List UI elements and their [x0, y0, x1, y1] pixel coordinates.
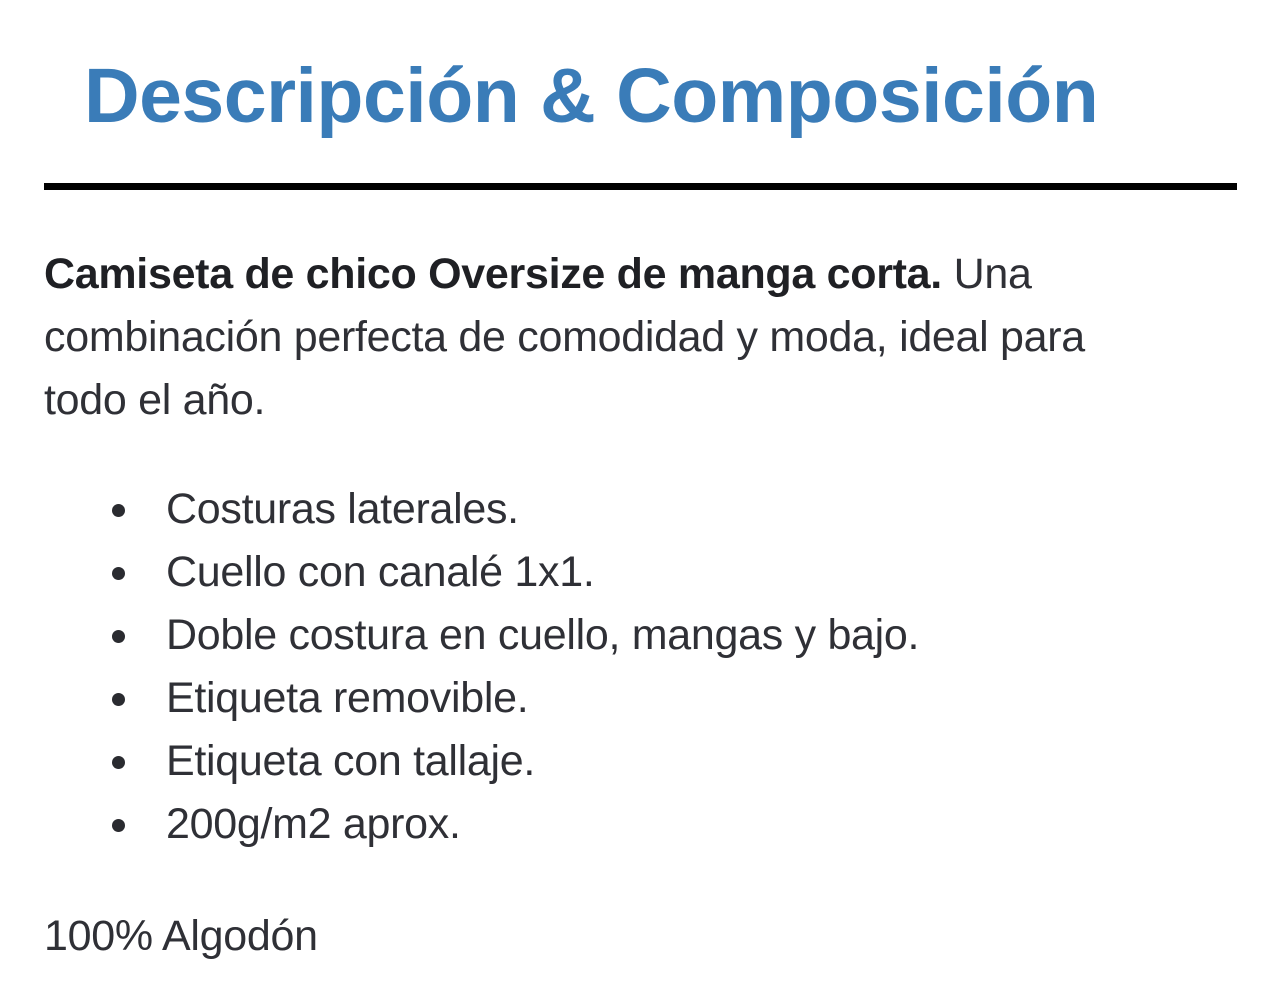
list-item-label: Costuras laterales. [166, 485, 519, 533]
page-title: Descripción & Composición [84, 58, 1244, 135]
bullet-dot-icon [112, 630, 125, 643]
list-item-label: Cuello con canalé 1x1. [166, 548, 594, 596]
list-item: Costuras laterales. [44, 478, 1204, 541]
product-description: Camiseta de chico Oversize de manga cort… [44, 243, 1174, 432]
list-item: Etiqueta con tallaje. [44, 730, 1204, 793]
bullet-dot-icon [112, 819, 125, 832]
list-item: 200g/m2 aprox. [44, 793, 1204, 856]
list-item: Etiqueta removible. [44, 667, 1204, 730]
bullet-dot-icon [112, 567, 125, 580]
description-composition-panel: Descripción & Composición Camiseta de ch… [0, 0, 1284, 999]
bullet-dot-icon [112, 693, 125, 706]
list-item-label: Doble costura en cuello, mangas y bajo. [166, 611, 919, 659]
list-item: Doble costura en cuello, mangas y bajo. [44, 604, 1204, 667]
composition-text: 100% Algodón [44, 905, 318, 968]
list-item-label: 200g/m2 aprox. [166, 800, 461, 848]
feature-list: Costuras laterales. Cuello con canalé 1x… [44, 478, 1204, 856]
bullet-dot-icon [112, 504, 125, 517]
title-divider [44, 183, 1237, 190]
list-item-label: Etiqueta removible. [166, 674, 528, 722]
list-item-label: Etiqueta con tallaje. [166, 737, 535, 785]
product-description-lead: Camiseta de chico Oversize de manga cort… [44, 250, 942, 298]
list-item: Cuello con canalé 1x1. [44, 541, 1204, 604]
bullet-dot-icon [112, 756, 125, 769]
